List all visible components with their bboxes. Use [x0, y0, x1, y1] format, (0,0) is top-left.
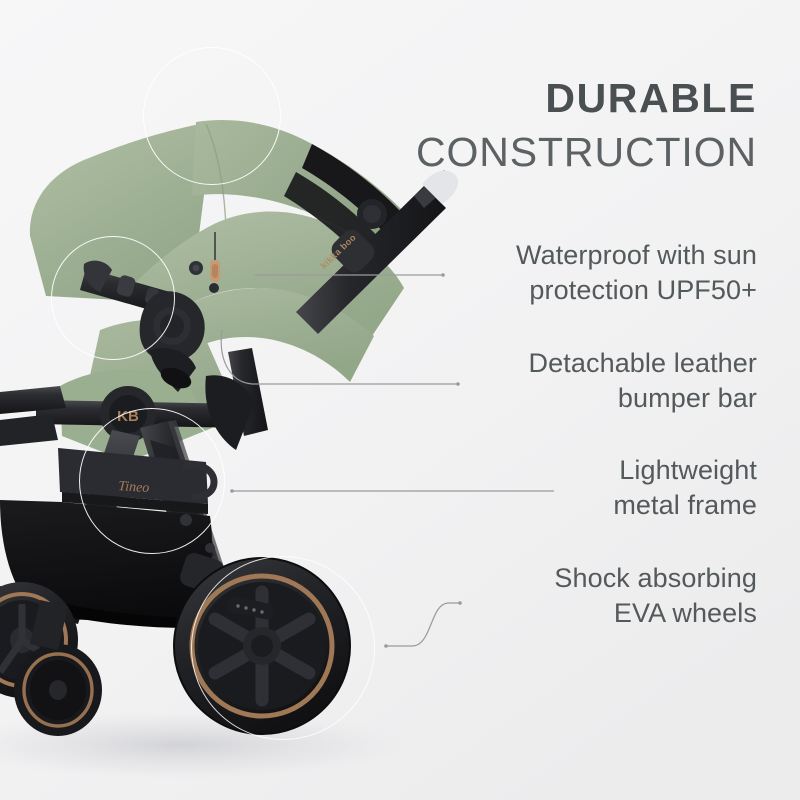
feature-0-line-1: Waterproof with sun: [516, 240, 757, 270]
title-line-construction: CONSTRUCTION: [327, 132, 757, 173]
feature-3-line-1: Shock absorbing: [554, 563, 757, 593]
feature-3-line-2: EVA wheels: [614, 598, 757, 628]
feature-1-line-1: Detachable leather: [529, 348, 757, 378]
feature-2-line-1: Lightweight: [619, 455, 757, 485]
feature-2-line-2: metal frame: [613, 490, 757, 520]
svg-text:KB: KB: [117, 408, 139, 425]
title-line-durable: DURABLE: [327, 78, 757, 119]
model-name-logo: Tineo: [118, 479, 150, 496]
feature-0-line-2: protection UPF50+: [529, 275, 757, 305]
page-title: DURABLE CONSTRUCTION: [327, 78, 757, 173]
feature-item-eva-wheels: Shock absorbing EVA wheels: [417, 561, 757, 631]
feature-item-waterproof: Waterproof with sun protection UPF50+: [417, 238, 757, 308]
infographic-canvas: kikka boo: [0, 0, 800, 800]
kb-hub-logo: KB: [117, 408, 139, 425]
feature-item-bumper-bar: Detachable leather bumper bar: [417, 346, 757, 416]
feature-item-metal-frame: Lightweight metal frame: [417, 453, 757, 523]
svg-text:Tineo: Tineo: [118, 479, 150, 496]
feature-1-line-2: bumper bar: [618, 383, 757, 413]
rear-wheel-group: [174, 558, 350, 734]
